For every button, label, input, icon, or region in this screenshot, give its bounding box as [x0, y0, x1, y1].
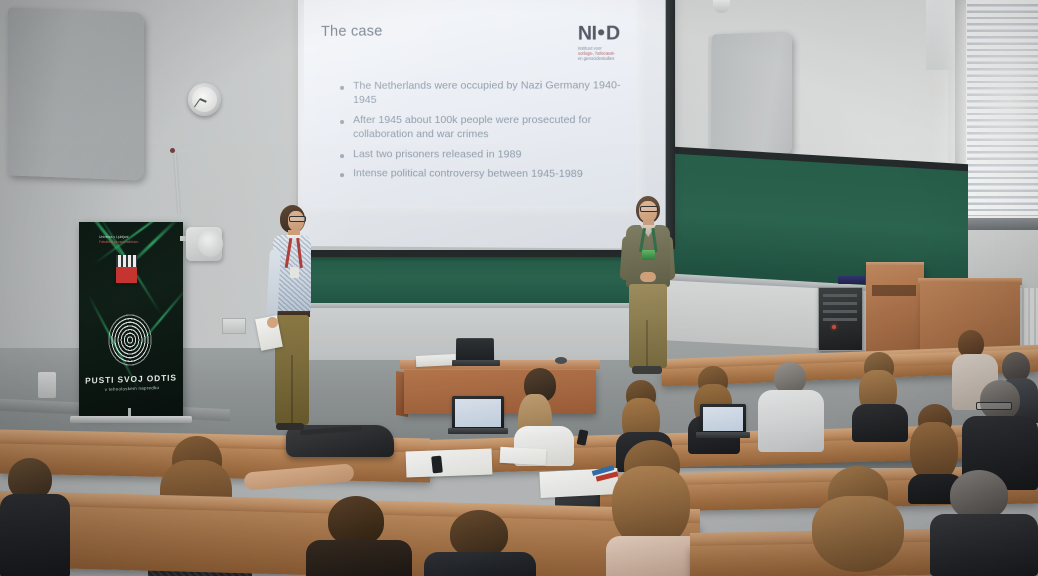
rack-slot	[823, 302, 857, 305]
banner-headline: PUSTI SVOJ ODTIS	[84, 372, 178, 385]
paper-sheet	[500, 447, 547, 465]
person-torso	[758, 390, 824, 452]
lectern-shelf	[872, 285, 916, 296]
eyeglasses-icon	[289, 216, 306, 222]
chalkboard-back	[302, 257, 658, 305]
laptop-display	[703, 407, 743, 431]
rack-slot	[823, 318, 857, 321]
banner-subline: v tehnoloskem napredku	[87, 384, 177, 392]
audience-laptop-screen[interactable]	[700, 404, 746, 434]
desk-papers	[416, 354, 457, 367]
person-head	[950, 470, 1008, 520]
person-torso	[306, 540, 412, 576]
presenter-right-leg-seam	[646, 320, 648, 368]
laptop-display	[455, 399, 501, 427]
wall-sensor-dot	[170, 148, 175, 153]
wall-outlet-box	[38, 372, 56, 398]
person-hair	[812, 496, 904, 572]
audience-laptop-base[interactable]	[696, 432, 750, 438]
presenter-left-hand	[267, 317, 278, 328]
rack-slot	[823, 294, 857, 297]
paper-sheet	[406, 449, 493, 478]
audience-person	[852, 352, 908, 438]
fingerprint-icon	[108, 314, 152, 366]
presenter-laptop-base[interactable]	[452, 360, 500, 366]
wall-clock-icon	[188, 83, 221, 116]
audience-laptop-base[interactable]	[448, 428, 508, 434]
audience-person	[306, 496, 412, 576]
audience-person	[512, 368, 574, 460]
audience-person	[758, 362, 824, 460]
audience-person	[604, 440, 704, 576]
presenter-left-leg-seam	[291, 355, 293, 425]
rack-slot	[823, 310, 857, 313]
presenter-right-trousers	[629, 284, 667, 368]
banner-emblem-bars	[116, 255, 137, 267]
acoustic-panel-right	[712, 32, 792, 159]
rack-label-sign	[838, 276, 865, 284]
acoustic-panel-left	[8, 7, 144, 180]
banner-university-text: Univerza v Ljubljani Fakulteta za racuna…	[99, 235, 173, 244]
presenter-right-shoes	[632, 366, 662, 374]
speaker-cone-icon	[198, 230, 223, 257]
banner-university-line-2: Fakulteta za racunalnistvo	[99, 240, 173, 245]
lecture-hall-photo: The case NID instituut voor oorlogs-, ho…	[0, 0, 1038, 576]
eyeglasses-icon	[640, 206, 658, 212]
person-head	[980, 380, 1020, 420]
audience-person	[800, 466, 922, 576]
person-torso	[852, 404, 908, 442]
person-head	[328, 496, 384, 546]
presenter-laptop-screen[interactable]	[456, 338, 494, 362]
presenter-right	[618, 196, 676, 378]
person-head	[450, 510, 508, 558]
presenter-left-shoes	[276, 423, 304, 430]
presenter-right-hands	[640, 272, 656, 282]
banner-base	[70, 416, 192, 423]
lectern	[866, 265, 924, 353]
person-torso	[930, 514, 1038, 576]
mobile-phone[interactable]	[431, 456, 443, 474]
person-torso	[0, 494, 70, 576]
chalkboard-top-band	[302, 250, 658, 257]
audience-person	[0, 458, 70, 576]
presenter-left-badge	[290, 267, 299, 278]
equipment-rack	[818, 287, 863, 351]
desk-mouse[interactable]	[555, 357, 567, 364]
person-torso	[424, 552, 536, 576]
audience-person	[930, 470, 1038, 576]
rack-power-led	[832, 325, 836, 329]
person-torso	[606, 536, 702, 576]
eyeglasses-icon	[976, 402, 1012, 410]
presenter-left	[262, 205, 318, 437]
audience-laptop-screen[interactable]	[452, 396, 504, 430]
roll-up-banner: Univerza v Ljubljani Fakulteta za racuna…	[79, 222, 183, 416]
audience-person	[424, 510, 536, 576]
wall-socket-panel	[222, 318, 246, 334]
presenter-right-badge	[642, 250, 655, 260]
